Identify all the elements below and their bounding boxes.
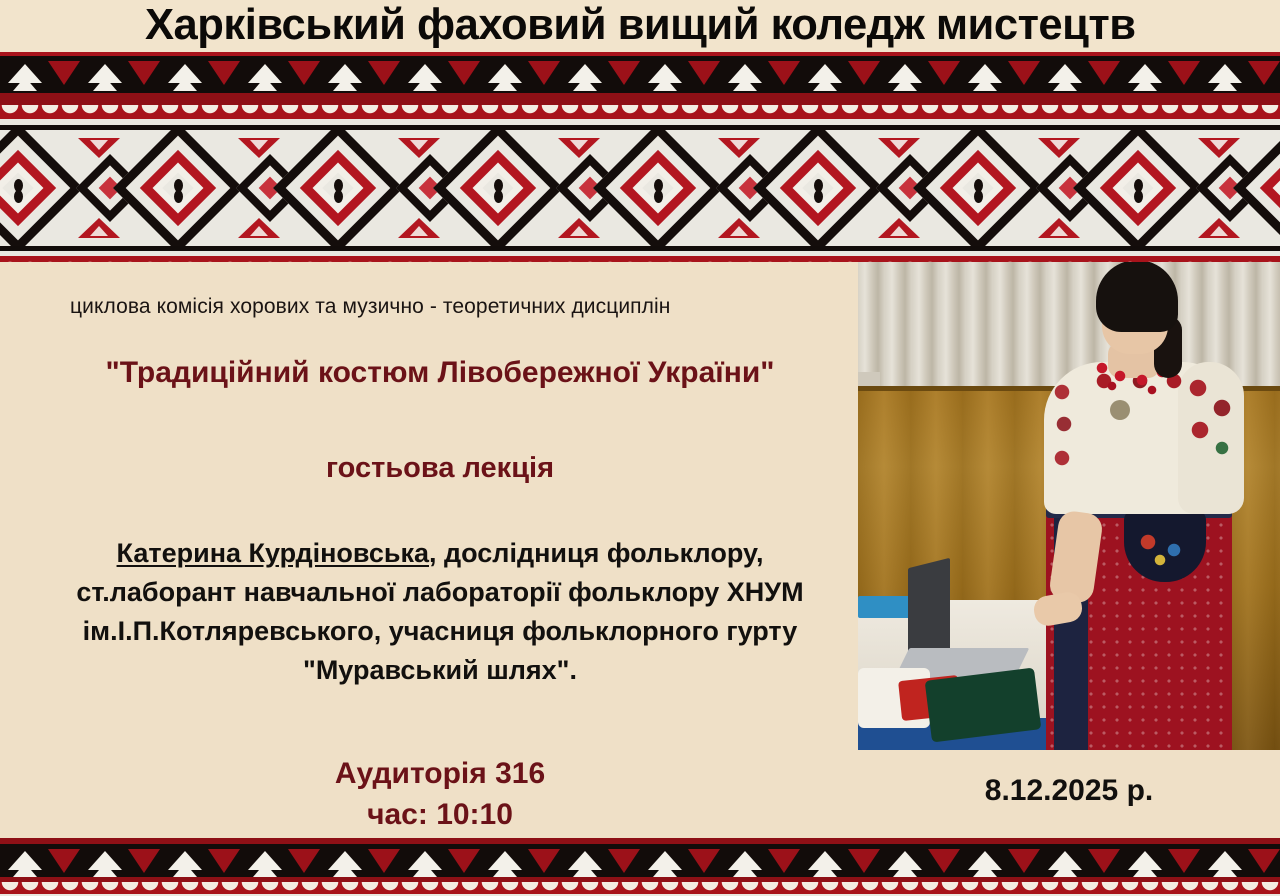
ornament-white-triangle xyxy=(13,863,37,877)
ornament-mini-triangle-inner xyxy=(90,140,108,150)
ornament-white-triangle xyxy=(93,77,117,91)
ornament-triangle-unit xyxy=(1200,59,1280,93)
ornament-red-triangle xyxy=(848,61,880,85)
lecture-type: гостьова лекція xyxy=(60,452,820,485)
ornament-triangle-unit xyxy=(960,59,1040,93)
ornament-triangle-unit xyxy=(320,847,400,877)
ornament-mini-triangle-inner xyxy=(890,140,908,150)
ornament-red-triangle xyxy=(128,61,160,85)
ornament-diamond-unit xyxy=(1240,130,1280,246)
ornament-white-triangle xyxy=(13,77,37,91)
ornament-triangle-unit xyxy=(320,59,400,93)
ornament-mini-triangle-inner xyxy=(1210,226,1228,236)
ornament-triangle-unit xyxy=(400,59,480,93)
department-line: циклова комісія хорових та музично - тео… xyxy=(70,295,860,319)
ornament-triangle-unit xyxy=(240,847,320,877)
ornament-triangle-unit xyxy=(480,847,560,877)
ornament-red-triangle xyxy=(288,849,320,873)
ornament-triangle-unit xyxy=(880,847,960,877)
ornament-triangle-unit xyxy=(1040,59,1120,93)
ornament-diamond-unit xyxy=(440,130,600,246)
poster-header: Харківський фаховий вищий коледж мистецт… xyxy=(0,0,1280,52)
ornament-red-triangle xyxy=(1248,849,1280,873)
ornament-dot xyxy=(814,190,823,203)
ornament-diamond-unit xyxy=(280,130,440,246)
venue-block: Аудиторія 316 час: 10:10 xyxy=(60,754,820,835)
ornament-red-triangle xyxy=(928,61,960,85)
ornament-mini-triangle-inner xyxy=(890,226,908,236)
room-line: Аудиторія 316 xyxy=(60,754,820,795)
ornament-diamond-field xyxy=(0,130,1280,246)
photo-front-embroidery xyxy=(1050,376,1084,488)
ornament-diamond-unit xyxy=(760,130,920,246)
ornament-dot xyxy=(494,190,503,203)
ornament-triangle-unit xyxy=(960,847,1040,877)
ornament-red-triangle xyxy=(128,849,160,873)
ornament-dot xyxy=(334,190,343,203)
text-column: циклова комісія хорових та музично - тео… xyxy=(0,262,858,838)
ornament-white-triangle xyxy=(1053,77,1077,91)
ornament-red-triangle xyxy=(1168,849,1200,873)
ornament-white-triangle xyxy=(493,77,517,91)
ornament-scallop-row xyxy=(0,882,1280,894)
ornament-triangle-unit xyxy=(800,59,880,93)
ornament-red-triangle xyxy=(1088,849,1120,873)
photo-hair xyxy=(1096,262,1178,332)
event-date: 8.12.2025 р. xyxy=(858,774,1280,808)
ornament-red-triangle xyxy=(768,61,800,85)
ornament-red-triangle xyxy=(48,61,80,85)
ornament-white-triangle xyxy=(413,863,437,877)
speaker-photo xyxy=(858,262,1280,750)
institution-title: Харківський фаховий вищий коледж мистецт… xyxy=(145,3,1136,49)
ornament-white-triangle xyxy=(653,863,677,877)
ornament-red-triangle xyxy=(48,849,80,873)
photo-laptop-screen xyxy=(908,558,950,660)
ornament-triangle-unit xyxy=(1120,847,1200,877)
ornament-white-triangle xyxy=(93,863,117,877)
ornament-white-triangle xyxy=(173,863,197,877)
ornament-red-triangle xyxy=(368,61,400,85)
ornament-white-triangle xyxy=(1213,77,1237,91)
ornament-red-triangle xyxy=(448,61,480,85)
ornament-triangle-unit xyxy=(0,59,80,93)
ornament-red-triangle xyxy=(528,849,560,873)
ornament-red-triangle xyxy=(688,61,720,85)
ornament-diamond-unit xyxy=(120,130,280,246)
ornament-red-triangle xyxy=(768,849,800,873)
ornament-stripe xyxy=(0,93,1280,105)
ornament-mini-triangle-inner xyxy=(1050,226,1068,236)
ornament-band-top xyxy=(0,52,1280,262)
ornament-white-triangle xyxy=(333,863,357,877)
ornament-red-triangle xyxy=(208,61,240,85)
ornament-triangle-unit xyxy=(640,59,720,93)
ornament-triangle-unit xyxy=(1200,847,1280,877)
ornament-triangle-unit xyxy=(640,847,720,877)
ornament-red-triangle xyxy=(1248,61,1280,85)
ornament-triangle-unit xyxy=(1120,59,1200,93)
ornament-diamond-unit xyxy=(0,130,120,246)
ornament-mini-triangle-inner xyxy=(250,140,268,150)
ornament-triangle-unit xyxy=(240,59,320,93)
ornament-white-triangle xyxy=(173,77,197,91)
ornament-mini-triangle-inner xyxy=(250,226,268,236)
ornament-white-triangle xyxy=(573,77,597,91)
ornament-triangle-unit xyxy=(880,59,960,93)
ornament-dot xyxy=(654,190,663,203)
poster-content: циклова комісія хорових та музично - тео… xyxy=(0,262,1280,838)
ornament-white-triangle xyxy=(893,863,917,877)
ornament-scallop-row xyxy=(0,105,1280,119)
ornament-triangle-unit xyxy=(160,59,240,93)
ornament-white-triangle xyxy=(733,77,757,91)
ornament-red-triangle xyxy=(688,849,720,873)
poster-root: Харківський фаховий вищий коледж мистецт… xyxy=(0,0,1280,896)
ornament-mini-triangle-inner xyxy=(570,140,588,150)
ornament-red-triangle xyxy=(1088,61,1120,85)
ornament-red-triangle xyxy=(608,849,640,873)
ornament-white-triangle xyxy=(1133,863,1157,877)
lecture-title: "Традиційний костюм Лівобережної України… xyxy=(60,352,820,395)
ornament-triangle-row xyxy=(0,59,1280,93)
photo-scene xyxy=(858,262,1280,750)
ornament-white-triangle xyxy=(893,77,917,91)
ornament-diamond-unit xyxy=(920,130,1080,246)
ornament-diamond-unit xyxy=(1080,130,1240,246)
ornament-triangle-unit xyxy=(80,847,160,877)
ornament-dot xyxy=(14,190,23,203)
ornament-red-triangle xyxy=(1008,849,1040,873)
ornament-white-triangle xyxy=(813,863,837,877)
ornament-triangle-unit xyxy=(1040,847,1120,877)
ornament-white-triangle xyxy=(1053,863,1077,877)
speaker-description: Катерина Курдіновська, дослідниця фолькл… xyxy=(40,534,840,691)
ornament-red-triangle xyxy=(208,849,240,873)
ornament-mini-triangle-inner xyxy=(730,226,748,236)
ornament-white-triangle xyxy=(813,77,837,91)
ornament-red-triangle xyxy=(848,849,880,873)
ornament-triangle-unit xyxy=(480,59,560,93)
ornament-triangle-unit xyxy=(400,847,480,877)
ornament-red-triangle xyxy=(1008,61,1040,85)
ornament-white-triangle xyxy=(973,863,997,877)
ornament-white-triangle xyxy=(493,863,517,877)
ornament-triangle-unit xyxy=(560,847,640,877)
photo-pendant xyxy=(1110,400,1130,420)
ornament-mini-triangle-inner xyxy=(730,140,748,150)
ornament-white-triangle xyxy=(253,863,277,877)
photo-sleeve-embroidery xyxy=(1184,374,1238,460)
ornament-white-triangle xyxy=(333,77,357,91)
ornament-white-triangle xyxy=(1133,77,1157,91)
ornament-mini-triangle-inner xyxy=(570,226,588,236)
ornament-dot xyxy=(974,190,983,203)
ornament-red-triangle xyxy=(928,849,960,873)
ornament-white-triangle xyxy=(1213,863,1237,877)
ornament-mini-triangle-inner xyxy=(1050,140,1068,150)
ornament-red-triangle xyxy=(608,61,640,85)
ornament-triangle-unit xyxy=(720,59,800,93)
speaker-name: Катерина Курдіновська xyxy=(117,538,429,568)
ornament-red-triangle xyxy=(448,849,480,873)
ornament-triangle-unit xyxy=(160,847,240,877)
ornament-triangle-unit xyxy=(720,847,800,877)
ornament-dot xyxy=(1134,190,1143,203)
ornament-triangle-unit xyxy=(560,59,640,93)
ornament-red-triangle xyxy=(288,61,320,85)
ornament-white-triangle xyxy=(573,863,597,877)
ornament-triangle-unit xyxy=(80,59,160,93)
ornament-mini-triangle-inner xyxy=(90,226,108,236)
ornament-red-triangle xyxy=(368,849,400,873)
ornament-white-triangle xyxy=(973,77,997,91)
ornament-white-triangle xyxy=(413,77,437,91)
ornament-red-triangle xyxy=(1168,61,1200,85)
ornament-triangle-row xyxy=(0,847,1280,877)
time-line: час: 10:10 xyxy=(60,795,820,836)
ornament-triangle-unit xyxy=(0,847,80,877)
ornament-white-triangle xyxy=(253,77,277,91)
ornament-mini-triangle-inner xyxy=(1210,140,1228,150)
ornament-band-bottom xyxy=(0,838,1280,896)
ornament-mini-triangle-inner xyxy=(410,226,428,236)
ornament-red-triangle xyxy=(528,61,560,85)
ornament-mini-triangle-inner xyxy=(410,140,428,150)
ornament-triangle-unit xyxy=(800,847,880,877)
ornament-white-triangle xyxy=(733,863,757,877)
ornament-dot xyxy=(174,190,183,203)
ornament-white-triangle xyxy=(653,77,677,91)
ornament-diamond-unit xyxy=(600,130,760,246)
